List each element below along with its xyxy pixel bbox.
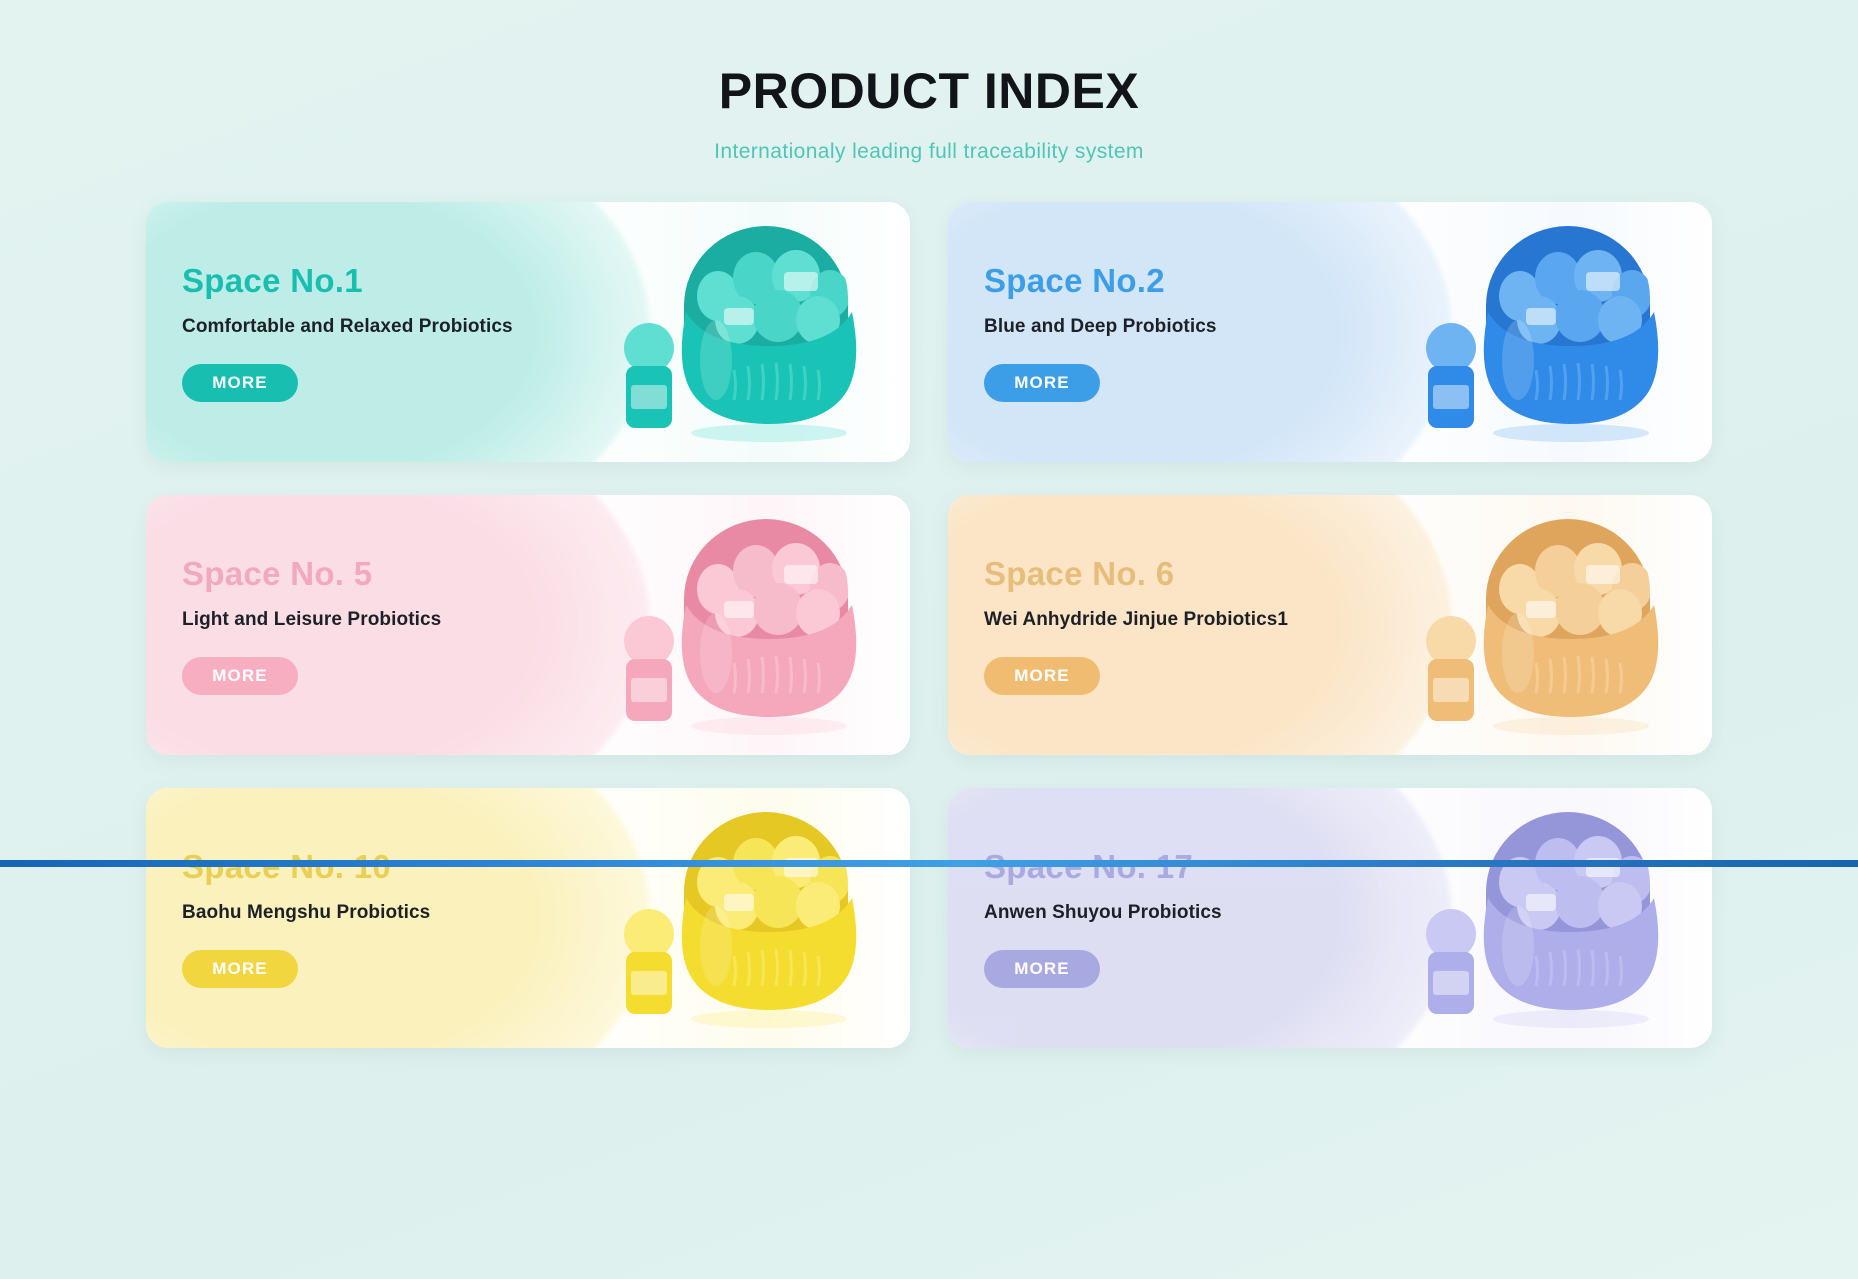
card-body: Space No.1 Comfortable and Relaxed Probi…: [182, 202, 625, 462]
product-card-6[interactable]: Space No. 17 Anwen Shuyou Probiotics MOR…: [948, 788, 1712, 1048]
card-title: Space No.1: [182, 262, 625, 300]
product-image: [1408, 220, 1678, 450]
card-body: Space No. 5 Light and Leisure Probiotics…: [182, 495, 625, 755]
more-button-card-4[interactable]: MORE: [984, 657, 1100, 695]
more-button-card-5[interactable]: MORE: [182, 950, 298, 988]
card-description: Wei Anhydride Jinjue Probiotics1: [984, 609, 1427, 631]
card-body: Space No. 10 Baohu Mengshu Probiotics MO…: [182, 788, 625, 1048]
card-body: Space No.2 Blue and Deep Probiotics MORE: [984, 202, 1427, 462]
more-button-card-3[interactable]: MORE: [182, 657, 298, 695]
more-button-card-1[interactable]: MORE: [182, 364, 298, 402]
section-divider: [0, 860, 1858, 867]
card-body: Space No. 17 Anwen Shuyou Probiotics MOR…: [984, 788, 1427, 1048]
product-image: [606, 806, 876, 1036]
more-button-card-2[interactable]: MORE: [984, 364, 1100, 402]
card-title: Space No. 10: [182, 848, 625, 886]
page-header: PRODUCT INDEX Internationaly leading ful…: [0, 0, 1858, 164]
product-card-4[interactable]: Space No. 6 Wei Anhydride Jinjue Probiot…: [948, 495, 1712, 755]
product-image: [606, 220, 876, 450]
card-title: Space No. 6: [984, 555, 1427, 593]
card-description: Comfortable and Relaxed Probiotics: [182, 316, 625, 338]
product-card-2[interactable]: Space No.2 Blue and Deep Probiotics MORE: [948, 202, 1712, 462]
card-description: Blue and Deep Probiotics: [984, 316, 1427, 338]
card-title: Space No. 5: [182, 555, 625, 593]
card-description: Baohu Mengshu Probiotics: [182, 902, 625, 924]
card-description: Light and Leisure Probiotics: [182, 609, 625, 631]
product-image: [1408, 806, 1678, 1036]
page-subtitle: Internationaly leading full traceability…: [0, 140, 1858, 164]
product-card-grid: Space No.1 Comfortable and Relaxed Probi…: [0, 202, 1858, 1048]
product-card-3[interactable]: Space No. 5 Light and Leisure Probiotics…: [146, 495, 910, 755]
page-title: PRODUCT INDEX: [0, 62, 1858, 120]
card-title: Space No. 17: [984, 848, 1427, 886]
product-image: [1408, 513, 1678, 743]
product-image: [606, 513, 876, 743]
card-description: Anwen Shuyou Probiotics: [984, 902, 1427, 924]
product-card-1[interactable]: Space No.1 Comfortable and Relaxed Probi…: [146, 202, 910, 462]
product-card-5[interactable]: Space No. 10 Baohu Mengshu Probiotics MO…: [146, 788, 910, 1048]
more-button-card-6[interactable]: MORE: [984, 950, 1100, 988]
card-body: Space No. 6 Wei Anhydride Jinjue Probiot…: [984, 495, 1427, 755]
card-title: Space No.2: [984, 262, 1427, 300]
